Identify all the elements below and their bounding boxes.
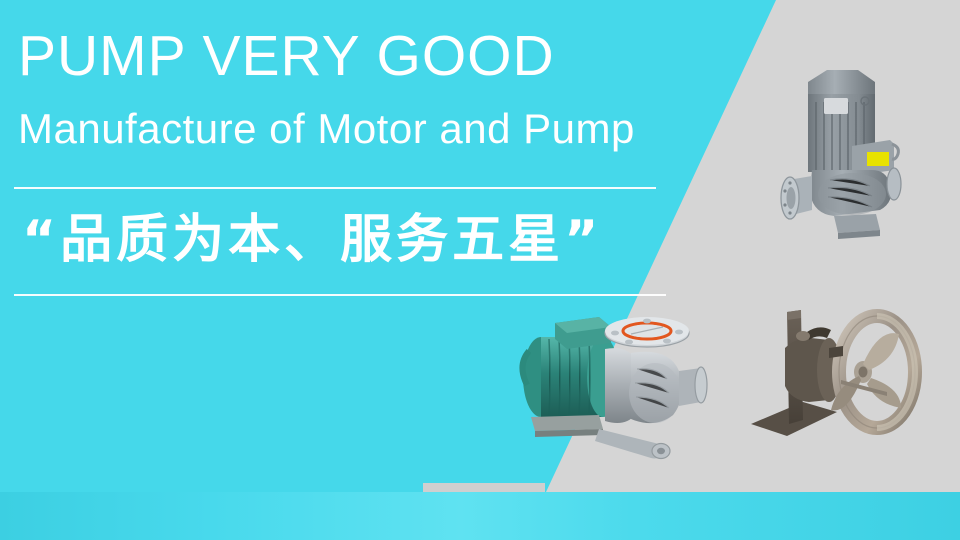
product-image-horizontal-motor-pump	[495, 305, 725, 465]
bottom-notch-accent	[423, 483, 545, 492]
product-image-submersible-mixer	[745, 296, 945, 456]
slogan-text: “品质为本、服务五星”	[22, 200, 602, 281]
divider-bottom	[14, 294, 666, 296]
page-subtitle: Manufacture of Motor and Pump	[18, 108, 635, 150]
bottom-gradient-bar	[0, 492, 960, 540]
promo-banner: PUMP VERY GOOD Manufacture of Motor and …	[0, 0, 960, 540]
page-title: PUMP VERY GOOD	[18, 28, 555, 85]
product-image-vertical-inline-pump	[772, 58, 922, 248]
divider-top	[14, 187, 656, 189]
